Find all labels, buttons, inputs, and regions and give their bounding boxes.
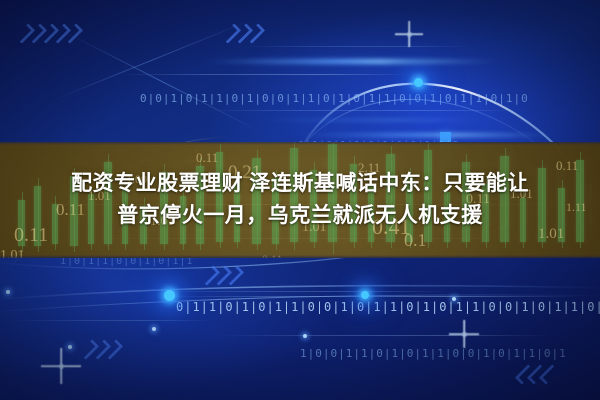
headline-line-2: 普京停火一月，乌克兰就派无人机支援 xyxy=(117,203,483,229)
headline-text-block: 配资专业股票理财 泽连斯基喊话中东：只要能让 普京停火一月，乌克兰就派无人机支援 xyxy=(0,142,600,258)
headline-line-1: 配资专业股票理财 泽连斯基喊话中东：只要能让 xyxy=(71,171,529,197)
news-banner: 0|0|1|0|1|1|0|1|0|0|1|1|0|1|0|1|1|0|0|1|… xyxy=(0,0,600,400)
